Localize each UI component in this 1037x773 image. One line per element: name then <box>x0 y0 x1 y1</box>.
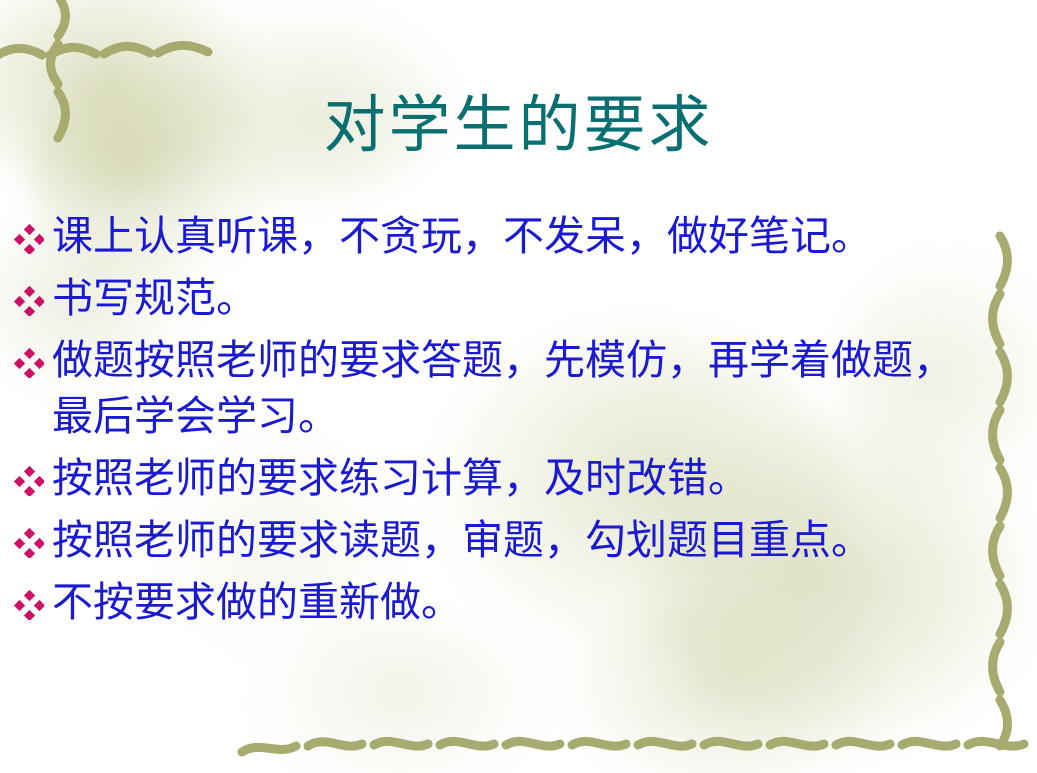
list-item: 课上认真听课，不贪玩，不发呆，做好笔记。 <box>12 208 1012 264</box>
list-item-label: 不按要求做的重新做。 <box>52 574 1012 630</box>
list-item: 不按要求做的重新做。 <box>12 574 1012 630</box>
list-item: 按照老师的要求练习计算，及时改错。 <box>12 450 1012 506</box>
slide-canvas: 对学生的要求 课上认真听课，不贪玩，不发呆，做好笔记。 <box>0 0 1037 773</box>
vine-branch-icon-bottom-horizontal <box>238 726 1028 772</box>
diamond-cluster-bullet-icon <box>12 450 52 506</box>
diamond-cluster-bullet-icon <box>12 574 52 630</box>
list-item-label: 课上认真听课，不贪玩，不发呆，做好笔记。 <box>52 208 1012 264</box>
list-item: 书写规范。 <box>12 270 1012 326</box>
list-item-label: 按照老师的要求读题，审题，勾划题目重点。 <box>52 512 1012 568</box>
list-item: 按照老师的要求读题，审题，勾划题目重点。 <box>12 512 1012 568</box>
diamond-cluster-bullet-icon <box>12 512 52 568</box>
watermark-blob <box>250 620 550 773</box>
list-item: 做题按照老师的要求答题，先模仿，再学着做题，最后学会学习。 <box>12 332 1012 444</box>
slide-title: 对学生的要求 <box>0 88 1037 162</box>
bullet-list: 课上认真听课，不贪玩，不发呆，做好笔记。 书写规范。 <box>12 208 1012 636</box>
list-item-label: 书写规范。 <box>52 270 1012 326</box>
diamond-cluster-bullet-icon <box>12 332 52 388</box>
diamond-cluster-bullet-icon <box>12 208 52 264</box>
vine-branch-icon-top-horizontal <box>0 30 230 76</box>
list-item-label: 按照老师的要求练习计算，及时改错。 <box>52 450 1012 506</box>
diamond-cluster-bullet-icon <box>12 270 52 326</box>
list-item-label: 做题按照老师的要求答题，先模仿，再学着做题，最后学会学习。 <box>52 332 972 444</box>
